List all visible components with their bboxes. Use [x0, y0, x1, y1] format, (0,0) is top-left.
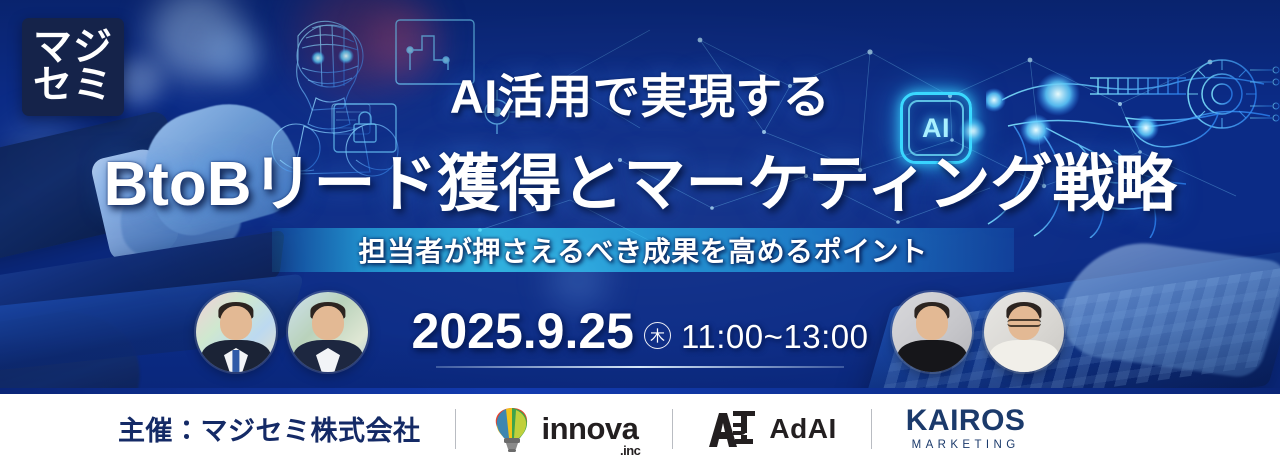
sponsor-logo-adai[interactable]: AdAI [707, 409, 836, 449]
host-label: 主催：マジセミ株式会社 [118, 409, 421, 448]
speaker-photos-right [892, 292, 1064, 372]
subtitle-band: 担当者が押さえるべき成果を高めるポイント [272, 228, 1014, 272]
sponsor-logo-kairos[interactable]: KAIROS MARKETING [906, 406, 1026, 452]
footer-divider [455, 409, 456, 449]
speaker-photos-left [196, 292, 368, 372]
innova-label: innova [542, 411, 639, 446]
speaker-avatar-2 [288, 292, 368, 372]
event-day-of-week: 木 [644, 322, 671, 349]
speaker-avatar-1 [196, 292, 276, 372]
innova-suffix: .inc [620, 443, 640, 458]
kairos-wordmark: KAIROS [906, 406, 1026, 436]
footer-bar: 主催：マジセミ株式会社 innova .inc [0, 394, 1280, 463]
headline-line-2: BtoBリード獲得とマーケティング戦略 [0, 133, 1280, 223]
event-time: 11:00~13:00 [681, 318, 868, 356]
footer-divider [672, 409, 673, 449]
headline-line-1: AI活用で実現する [0, 58, 1280, 127]
lightbulb-icon [490, 406, 534, 452]
webinar-banner: マジ セミ AI AI活用で実現する BtoBリード獲得とマーケティング戦略 担… [0, 0, 1280, 463]
adai-mark-icon [707, 409, 761, 449]
adai-wordmark: AdAI [769, 413, 836, 445]
subtitle-text: 担当者が押さえるべき成果を高めるポイント [358, 230, 927, 270]
headline-block: AI活用で実現する BtoBリード獲得とマーケティング戦略 [0, 58, 1280, 223]
schedule-row: 2025.9.25 木 11:00~13:00 [0, 302, 1280, 360]
innova-wordmark: innova .inc [542, 411, 639, 447]
footer-divider [871, 409, 872, 449]
schedule-underline [436, 366, 844, 368]
speaker-avatar-3 [892, 292, 972, 372]
kairos-tagline: MARKETING [912, 440, 1020, 452]
sponsor-logo-innova[interactable]: innova .inc [490, 406, 639, 452]
speaker-avatar-4 [984, 292, 1064, 372]
event-date: 2025.9.25 [412, 302, 634, 360]
